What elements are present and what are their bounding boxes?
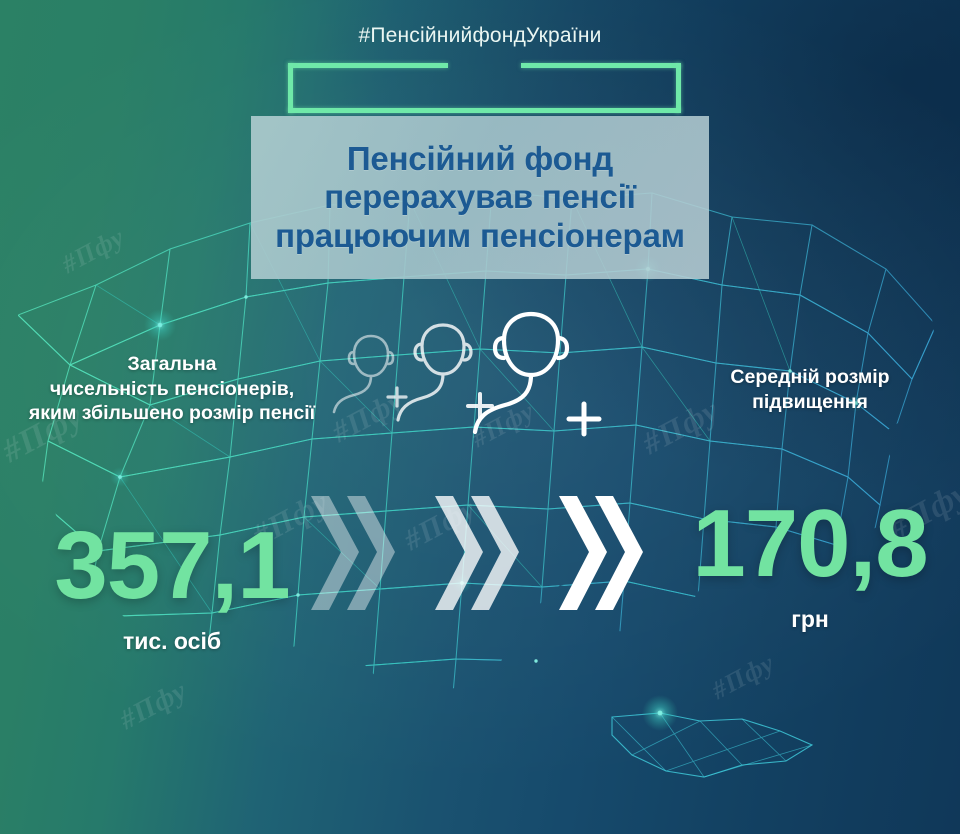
chevron-pair-mid-icon	[435, 496, 519, 610]
hashtag-text: #ПенсійнийфондУкраїни	[0, 24, 960, 48]
frame-right-segment	[676, 63, 681, 113]
title-line-2: перерахував пенсії	[275, 178, 685, 217]
frame-top-right-segment	[521, 63, 681, 68]
chevron-arrow-group	[305, 490, 655, 620]
stat-block-average-increase: Середній розмір підвищення 170,8 грн	[660, 365, 960, 633]
stat-left-unit: тис. осіб	[0, 628, 352, 655]
plus-large-icon	[569, 404, 599, 434]
plus-small-icon	[388, 388, 406, 406]
stat-block-total-pensioners: Загальна чисельність пенсіонерів, яким з…	[0, 352, 352, 655]
stat-left-label-line-3: яким збільшено розмір пенсії	[0, 401, 352, 426]
plus-medium-icon	[468, 394, 492, 418]
stat-left-label-line-1: Загальна	[0, 352, 352, 377]
stat-left-label: Загальна чисельність пенсіонерів, яким з…	[0, 352, 352, 426]
person-large-icon	[475, 314, 567, 432]
stat-right-label: Середній розмір підвищення	[660, 365, 960, 414]
frame-bottom-segment	[288, 108, 681, 113]
chevron-pair-bright-icon	[559, 496, 643, 610]
title-panel: Пенсійний фонд перерахував пенсії працюю…	[251, 116, 709, 279]
stat-right-value: 170,8	[660, 496, 960, 592]
stat-right-label-line-1: Середній розмір	[660, 365, 960, 390]
stat-right-label-line-2: підвищення	[660, 390, 960, 415]
person-medium-icon	[398, 325, 471, 420]
decorative-green-frame	[288, 63, 681, 113]
people-icon-group	[330, 308, 630, 458]
title-line-3: працюючим пенсіонерам	[275, 217, 685, 256]
title-line-1: Пенсійний фонд	[275, 140, 685, 179]
stat-left-value: 357,1	[0, 518, 352, 614]
stat-right-unit: грн	[660, 606, 960, 633]
frame-top-left-segment	[288, 63, 448, 68]
page-title: Пенсійний фонд перерахував пенсії працюю…	[261, 140, 699, 256]
infographic-canvas: #Пфу#Пфу#Пфу#Пфу#Пфу#Пфу#Пфу#Пфу#Пфу#Пфу…	[0, 0, 960, 834]
frame-left-segment	[288, 63, 293, 113]
stat-left-label-line-2: чисельність пенсіонерів,	[0, 377, 352, 402]
